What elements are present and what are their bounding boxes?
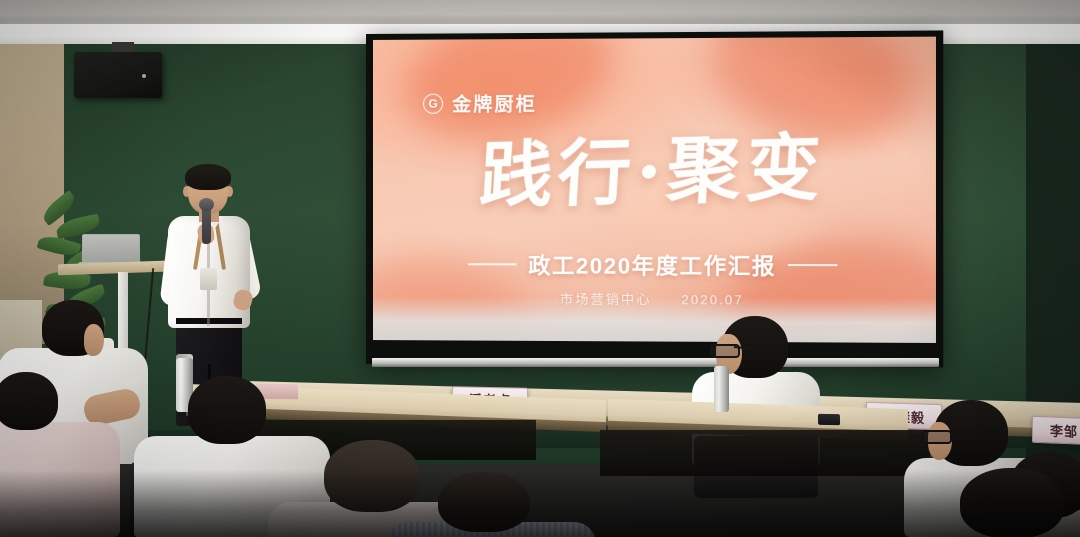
foreground-attendee-checked-shirt [392, 472, 592, 537]
attendee-shirt [0, 422, 120, 537]
thermos-bottle [714, 366, 729, 412]
microphone-head-icon [199, 198, 214, 211]
screen-bottom-bar [372, 358, 939, 367]
projection-screen: G 金牌厨柜 践行·聚变 政工2020年度工作汇报 市场营销中心 2020.07 [366, 30, 943, 367]
attendee-head [438, 472, 530, 532]
foreground-attendee-right [930, 468, 1080, 537]
under-desk-shadow [600, 430, 930, 476]
seated-attendee-left-front [0, 372, 122, 537]
left-beige-wall [0, 44, 64, 344]
attendee-head [960, 468, 1064, 537]
circled-g-logo-icon: G [423, 93, 443, 113]
projection-screen-surface: G 金牌厨柜 践行·聚变 政工2020年度工作汇报 市场营销中心 2020.07 [373, 37, 936, 343]
smartphone [818, 414, 840, 425]
slide-main-title: 践行·聚变 [373, 128, 936, 215]
subtitle-rule-left [468, 263, 516, 265]
slide-brand-logo: G 金牌厨柜 [423, 89, 537, 117]
speaker-led-icon [142, 74, 146, 78]
slide-brand-name: 金牌厨柜 [452, 89, 537, 116]
slide-subtitle: 政工2020年度工作汇报 [528, 248, 776, 281]
slide-subtitle-row: 政工2020年度工作汇报 [373, 248, 936, 282]
attendee-head [0, 372, 58, 430]
attendee-face [84, 324, 104, 356]
presentation-photo-scene: G 金牌厨柜 践行·聚变 政工2020年度工作汇报 市场营销中心 2020.07 [0, 0, 1080, 537]
presenter-hair [185, 164, 231, 190]
eyeglasses-icon [922, 430, 952, 444]
subtitle-rule-right [788, 264, 838, 266]
attendee-head [188, 376, 266, 444]
ceiling [0, 0, 1080, 26]
presenter-badge [200, 268, 217, 290]
wall-speaker [74, 52, 162, 98]
screen-glare-band [373, 296, 936, 343]
